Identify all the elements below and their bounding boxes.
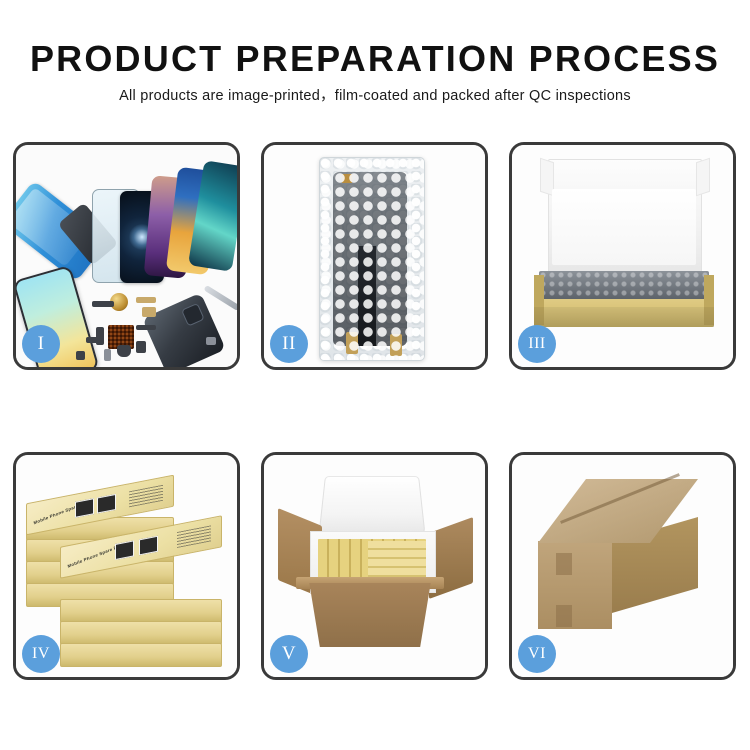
page-title: PRODUCT PREPARATION PROCESS <box>0 38 750 80</box>
connector-right <box>390 334 402 356</box>
stacked-box-side <box>60 621 222 645</box>
label-window-b <box>97 494 116 514</box>
step-panel-5[interactable]: V <box>261 452 488 680</box>
step-image-2: II <box>264 145 485 367</box>
step-image-1: I <box>16 145 237 367</box>
foam-padding <box>552 189 696 265</box>
page-subtitle: All products are image-printed，film-coat… <box>0 86 750 106</box>
carton-left-face <box>538 541 612 629</box>
label-window-a <box>115 540 134 560</box>
step-panel-4[interactable]: Mobile Phone Spare Parts Mobile Phone Sp… <box>13 452 240 680</box>
step-image-3: III <box>512 145 733 367</box>
product-preparation-infographic: PRODUCT PREPARATION PROCESS All products… <box>0 0 750 750</box>
screen-flex-cable <box>358 246 376 346</box>
label-spec-lines <box>129 485 163 508</box>
part-screw-set <box>76 351 85 360</box>
foam-box-lid <box>319 476 426 534</box>
step-image-5: V <box>264 455 485 677</box>
box-stack: Mobile Phone Spare Parts Mobile Phone Sp… <box>24 481 234 667</box>
part-vibrator-motor <box>117 345 131 357</box>
screwdriver-tool-icon <box>203 285 237 311</box>
step-badge-5: V <box>270 635 308 673</box>
bubble-wrap-bag <box>319 157 425 361</box>
step-badge-6: VI <box>518 635 556 673</box>
carton-tape-patch-bottom <box>556 605 572 627</box>
step-panel-3[interactable]: III <box>509 142 736 370</box>
stacked-box-side <box>60 599 222 623</box>
step-badge-1: I <box>22 325 60 363</box>
step-image-4: Mobile Phone Spare Parts Mobile Phone Sp… <box>16 455 237 677</box>
header: PRODUCT PREPARATION PROCESS All products… <box>0 38 750 106</box>
connector-left <box>346 332 358 354</box>
part-antenna-cable <box>136 325 156 330</box>
process-step-grid: I II <box>13 142 737 680</box>
step-badge-3: III <box>518 325 556 363</box>
part-speaker-strip <box>92 301 114 307</box>
carton-tape-patch-top <box>556 553 572 575</box>
step-panel-1[interactable]: I <box>13 142 240 370</box>
step-image-6: VI <box>512 455 733 677</box>
part-bracket-b <box>86 337 100 343</box>
part-flex-cable-b <box>142 307 156 317</box>
part-camera-module <box>104 349 111 361</box>
step-badge-2: II <box>270 325 308 363</box>
adhesive-tab <box>342 174 352 183</box>
box-front-shading <box>534 307 714 327</box>
label-spec-lines <box>177 525 211 548</box>
stacked-box-side <box>60 643 222 667</box>
step-panel-6[interactable]: VI <box>509 452 736 680</box>
step-panel-2[interactable]: II <box>261 142 488 370</box>
part-sim-tray <box>136 341 146 353</box>
bubble-wrapped-contents <box>539 271 709 299</box>
label-window-b <box>139 536 158 556</box>
step-badge-4: IV <box>22 635 60 673</box>
label-window-a <box>75 498 94 518</box>
part-small-screws <box>206 337 216 345</box>
carton-front-panel <box>304 583 436 647</box>
part-flex-cable-a <box>136 297 156 303</box>
